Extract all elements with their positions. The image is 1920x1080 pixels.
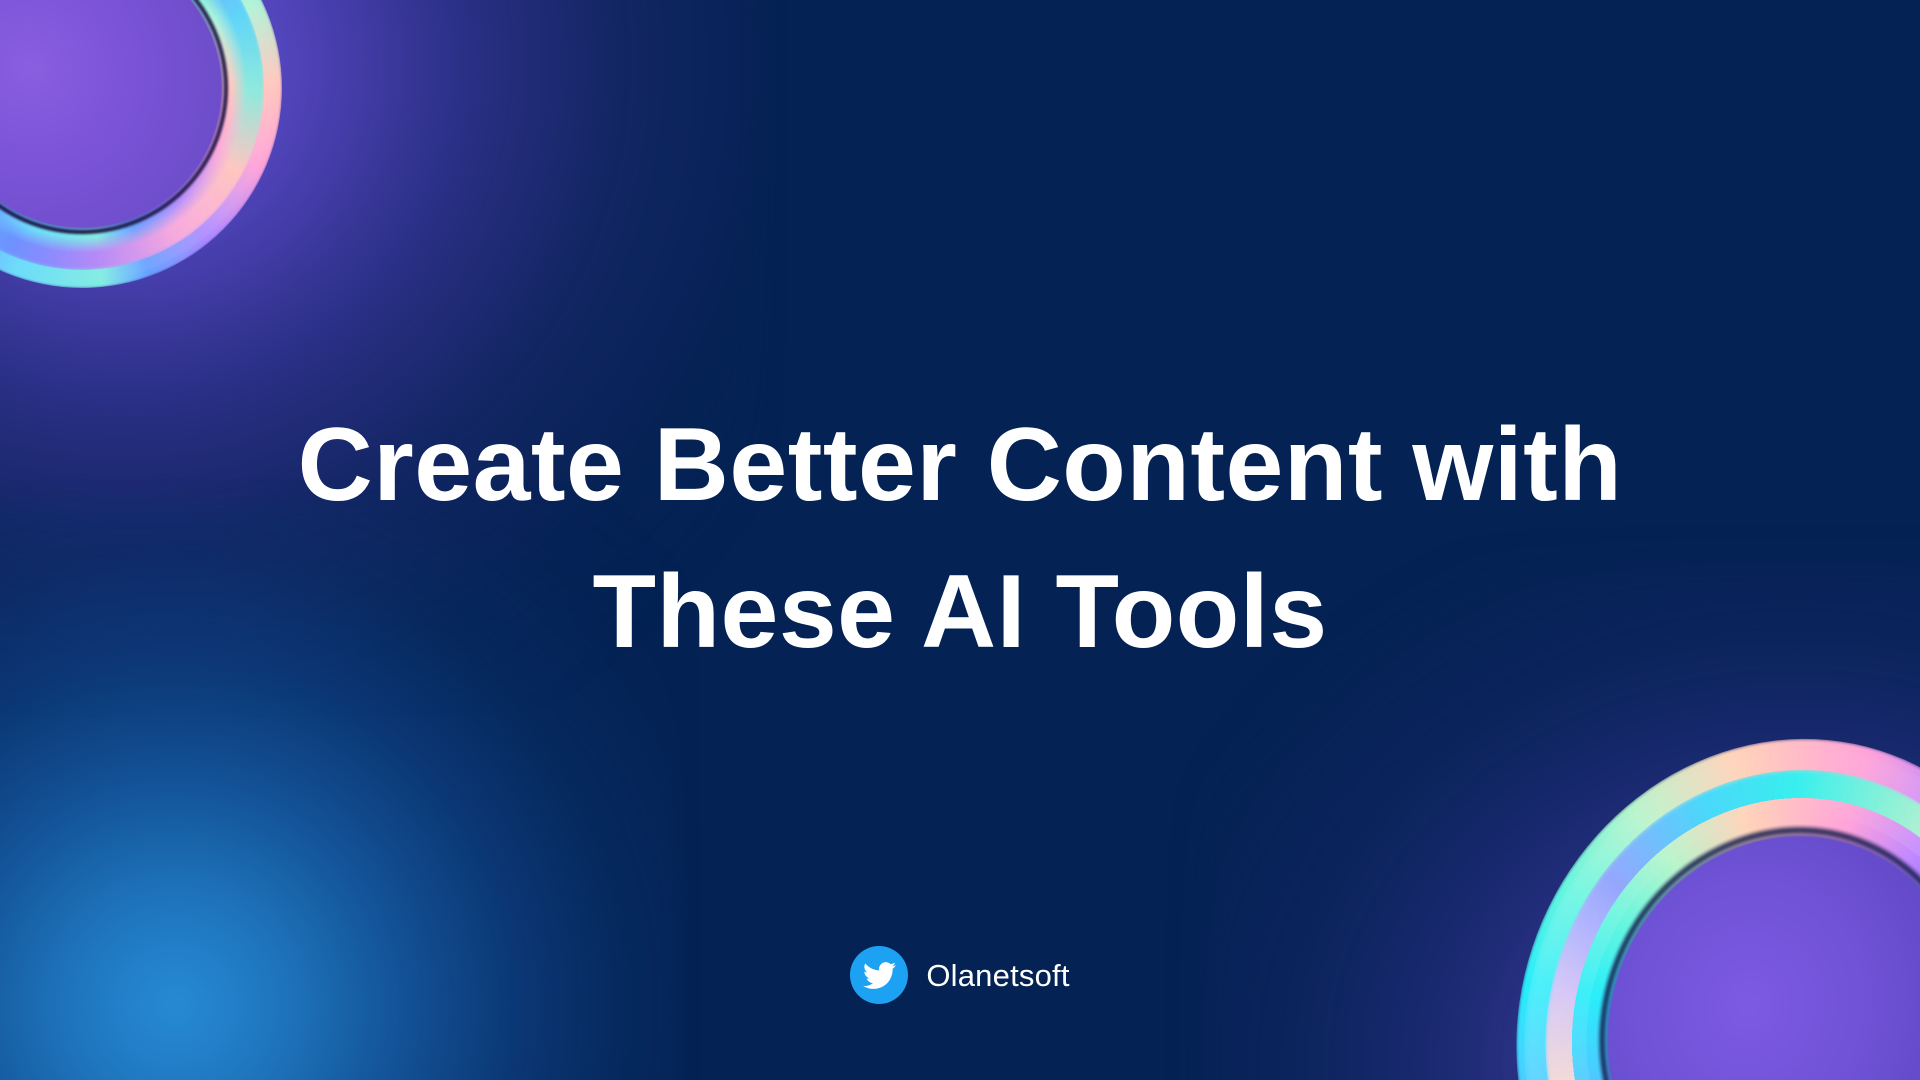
ring-outer-band [0,0,356,362]
iridescent-ring-top-left [0,0,356,362]
twitter-bird-icon [850,946,908,1004]
author-handle: Olanetsoft [0,946,1920,1004]
ring-inner-rim [1550,768,1920,1080]
iridescent-ring-bottom-right [1441,648,1920,1080]
headline-line-2: These AI Tools [120,539,1800,686]
ring-inner-edge [0,0,282,288]
ring-specular-sheen [1451,659,1920,1080]
ring-mid-band [1478,689,1920,1080]
ring-inner-edge [1547,765,1920,1080]
ring-outer-band [1441,648,1920,1080]
page-title: Create Better Content with These AI Tool… [0,392,1920,686]
ring-specular-sheen [0,0,348,354]
ring-mid-band [0,0,332,338]
ring-inner-rim [0,0,280,286]
handle-label: Olanetsoft [926,960,1069,991]
ring-inner-disc [1557,776,1920,1080]
headline-line-1: Create Better Content with [120,392,1800,539]
ring-inner-disc [0,0,274,280]
social-banner-canvas: Create Better Content with These AI Tool… [0,0,1920,1080]
